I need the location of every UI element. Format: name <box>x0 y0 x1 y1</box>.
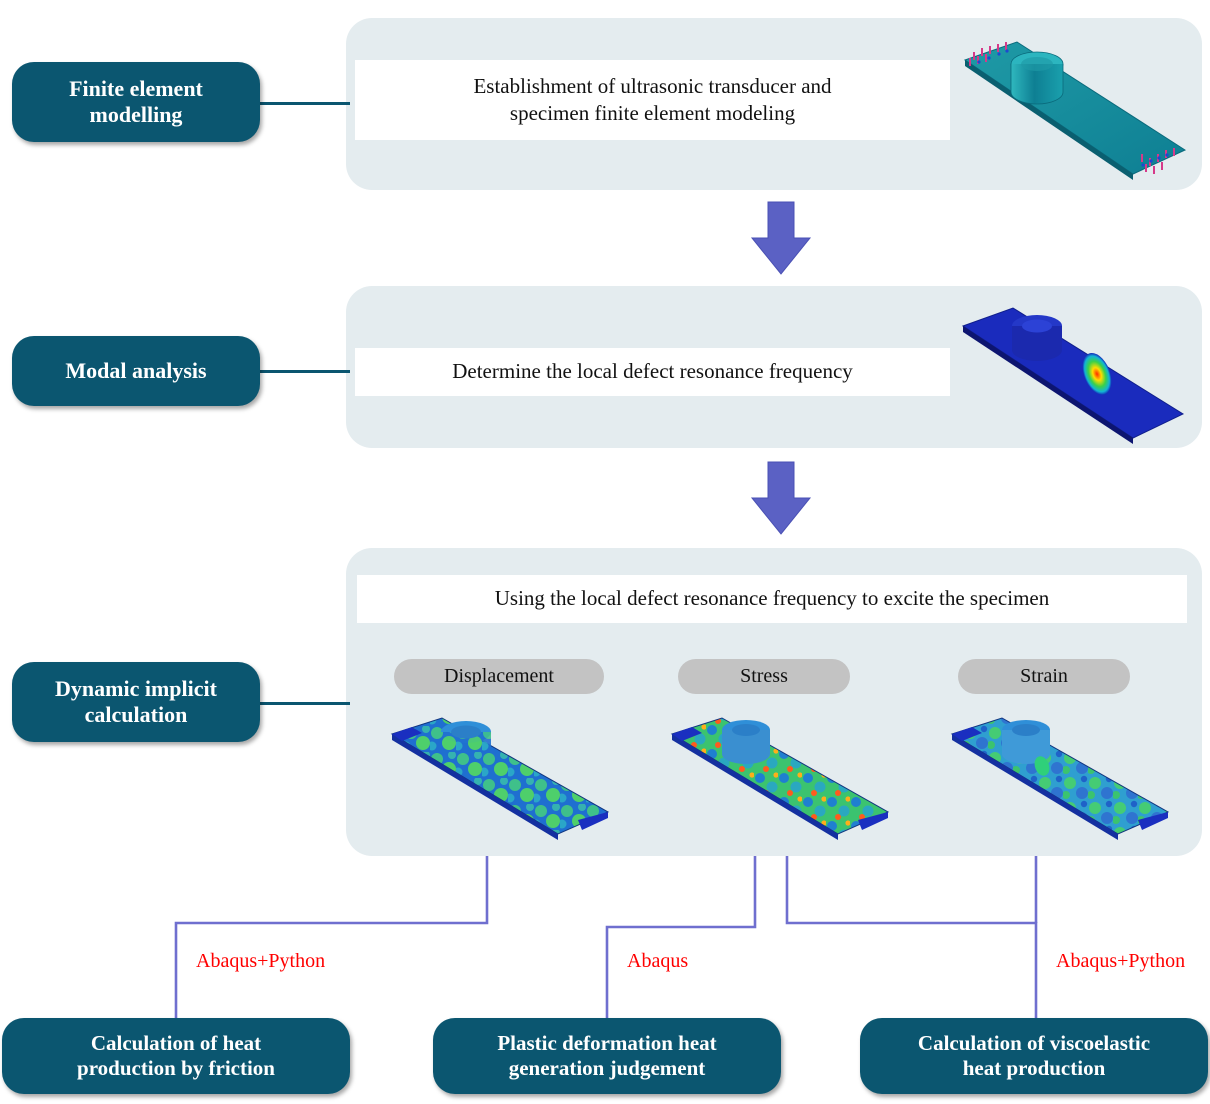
connector-stub-stage-3 <box>258 702 350 705</box>
stage-label-dynamic-implicit-calculation[interactable]: Dynamic implicit calculation <box>12 662 260 742</box>
result-pill-stress[interactable]: Stress <box>678 659 850 694</box>
connector-stub-stage-1 <box>258 102 350 105</box>
annotation-abaqus-middle: Abaqus <box>627 950 688 973</box>
annotation-abaqus-python-left: Abaqus+Python <box>196 950 325 973</box>
arrow-down-icon-2 <box>742 460 820 538</box>
result-image-stress <box>658 700 896 842</box>
statement-line-2: specimen finite element modeling <box>510 101 795 125</box>
output-line-1: Calculation of heat <box>91 1031 261 1055</box>
statement-line-1: Determine the local defect resonance fre… <box>452 358 853 385</box>
output-box-viscoelastic-heat[interactable]: Calculation of viscoelastic heat product… <box>860 1018 1208 1094</box>
stage-label-line-1: Modal analysis <box>65 358 206 384</box>
result-pill-label: Strain <box>1020 665 1068 688</box>
stage-label-line-1: Dynamic implicit <box>55 676 217 701</box>
output-line-2: generation judgement <box>509 1056 706 1080</box>
output-line-1: Calculation of viscoelastic <box>918 1031 1150 1055</box>
stage-label-modal-analysis[interactable]: Modal analysis <box>12 336 260 406</box>
arrow-down-icon-1 <box>742 200 820 278</box>
stage-label-line-2: modelling <box>90 102 183 127</box>
output-box-friction-heat[interactable]: Calculation of heat production by fricti… <box>2 1018 350 1094</box>
modal-shape-model-image <box>945 292 1200 450</box>
output-line-2: production by friction <box>77 1056 275 1080</box>
result-image-displacement <box>378 700 616 842</box>
stage-label-line-1: Finite element <box>69 76 203 101</box>
result-image-strain <box>938 700 1176 842</box>
result-pill-label: Displacement <box>444 665 554 688</box>
stage-label-line-2: calculation <box>85 702 188 727</box>
result-pill-label: Stress <box>740 665 788 688</box>
connector-stub-stage-2 <box>258 370 350 373</box>
output-line-2: heat production <box>963 1056 1106 1080</box>
result-pill-displacement[interactable]: Displacement <box>394 659 604 694</box>
annotation-abaqus-python-right: Abaqus+Python <box>1056 950 1185 973</box>
statement-line-1: Establishment of ultrasonic transducer a… <box>473 74 831 98</box>
statement-modal-analysis: Determine the local defect resonance fre… <box>355 348 950 396</box>
statement-finite-element-modelling: Establishment of ultrasonic transducer a… <box>355 60 950 140</box>
fem-mesh-model-image <box>945 22 1200 192</box>
stage-label-finite-element-modelling[interactable]: Finite element modelling <box>12 62 260 142</box>
result-pill-strain[interactable]: Strain <box>958 659 1130 694</box>
output-box-plastic-heat[interactable]: Plastic deformation heat generation judg… <box>433 1018 781 1094</box>
statement-line-1: Using the local defect resonance frequen… <box>495 585 1050 612</box>
statement-dynamic-implicit-calculation: Using the local defect resonance frequen… <box>357 575 1187 623</box>
output-line-1: Plastic deformation heat <box>497 1031 716 1055</box>
